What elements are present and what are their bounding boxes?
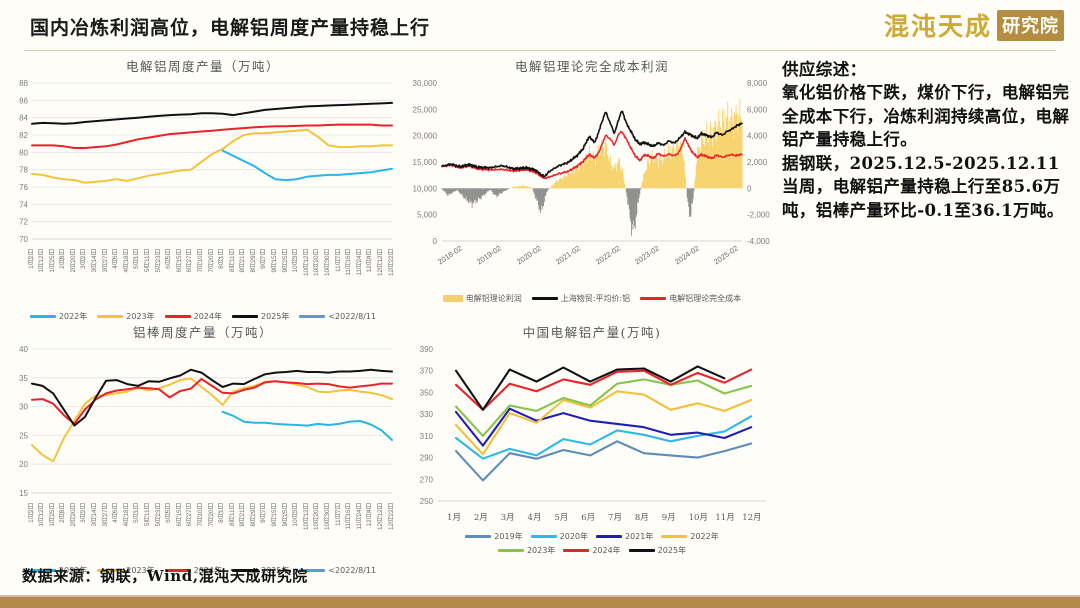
svg-text:350: 350 xyxy=(420,388,434,397)
footer-bar xyxy=(0,597,1080,608)
legend-swatch xyxy=(640,297,666,300)
legend-item: 2024年 xyxy=(165,311,222,322)
chart-legend: 电解铝理论利润上海物贸:平均价:铝电解铝理论完全成本 xyxy=(408,293,776,304)
svg-text:30: 30 xyxy=(19,403,28,412)
legend-label: 2022年 xyxy=(690,531,718,542)
svg-text:88: 88 xyxy=(19,79,28,88)
svg-text:10,000: 10,000 xyxy=(413,184,438,193)
x-axis-label: 12月4日 xyxy=(367,503,373,526)
x-axis-label: 3月 xyxy=(501,511,515,523)
svg-text:76: 76 xyxy=(19,183,28,192)
x-axis-label: 11月16日 xyxy=(346,249,352,276)
x-axis-label: 3月14日 xyxy=(92,503,98,526)
legend-swatch xyxy=(661,535,687,538)
x-axis-label: 8月21日 xyxy=(240,249,246,272)
svg-text:86: 86 xyxy=(19,96,28,105)
x-axis-label: 10月12日 xyxy=(304,503,310,530)
x-axis-label: 3月27日 xyxy=(103,503,109,526)
chart1-canvas: 70727476788082848688 xyxy=(8,77,398,249)
legend-item: <2022/8/11 xyxy=(299,312,376,321)
chart-title: 中国电解铝产量(万吨) xyxy=(408,322,776,341)
x-axis-label: 6月 xyxy=(581,511,595,523)
page-title: 国内冶炼利润高位，电解铝周度产量持稳上行 xyxy=(30,13,430,40)
slide-header: 国内冶炼利润高位，电解铝周度产量持稳上行 混沌天成 研究院 xyxy=(0,0,1080,52)
legend-label: 2023年 xyxy=(126,311,154,322)
x-axis-label: 6月27日 xyxy=(187,249,193,272)
x-axis-label: 1月2日 xyxy=(29,249,35,269)
plot-area: 05,00010,00015,00020,00025,00030,000-4,0… xyxy=(408,77,776,257)
svg-text:0: 0 xyxy=(433,237,438,246)
svg-text:30,000: 30,000 xyxy=(413,79,438,88)
svg-text:72: 72 xyxy=(19,218,28,227)
x-axis-label: 10月30日 xyxy=(325,503,331,530)
x-axis-label: 10月20日 xyxy=(314,249,320,276)
legend-label: 2021年 xyxy=(625,531,653,542)
x-axis-label: 8月11日 xyxy=(230,503,236,526)
plot-area: 70727476788082848688 xyxy=(8,77,398,249)
x-axis-label: 5月11日 xyxy=(145,249,151,272)
x-axis-label: 1月25日 xyxy=(50,503,56,526)
chart-title: 电解铝周度产量（万吨） xyxy=(8,56,398,75)
x-axis-label: 11月7日 xyxy=(336,503,342,526)
x-axis-label: 9月15日 xyxy=(272,249,278,272)
x-axis-label: 10月30日 xyxy=(325,249,331,276)
svg-text:270: 270 xyxy=(420,475,434,484)
svg-text:70: 70 xyxy=(19,235,28,244)
x-axis-labels: 1月2月3月4月5月6月7月8月9月10月11月12月 xyxy=(408,511,776,527)
x-axis-labels: 1月2日1月12日1月25日2月8日2月20日3月2日3月14日3月27日4月6… xyxy=(8,503,398,563)
x-axis-label: 4月18日 xyxy=(124,503,130,526)
legend-label: 2019年 xyxy=(494,531,522,542)
data-source-note: 数据来源：钢联，Wind,混沌天成研究院 xyxy=(22,565,308,586)
svg-text:35: 35 xyxy=(19,374,28,383)
x-axis-label: 6月5日 xyxy=(166,249,172,269)
supply-summary-text: 供应综述： 氧化铝价格下跌，煤价下行，电解铝完全成本下行，冶炼利润持续高位，电解… xyxy=(782,58,1074,222)
legend-swatch xyxy=(629,549,655,552)
legend-swatch xyxy=(443,295,463,302)
legend-item: 2023年 xyxy=(97,311,154,322)
x-axis-label: 7月 xyxy=(608,511,622,523)
x-axis-label: 10月3日 xyxy=(293,249,299,272)
header-divider xyxy=(24,50,1056,51)
x-axis-label: 9月7日 xyxy=(261,249,267,269)
x-axis-label: 4月6日 xyxy=(113,503,119,523)
x-axis-label: 12月22日 xyxy=(389,249,395,276)
legend-label: <2022/8/11 xyxy=(328,566,376,575)
legend-item: 2023年 xyxy=(498,545,555,556)
legend-label: <2022/8/11 xyxy=(328,312,376,321)
legend-label: 2024年 xyxy=(194,311,222,322)
x-axis-label: 11月24日 xyxy=(357,249,363,276)
svg-text:25: 25 xyxy=(19,431,28,440)
legend-row: 2023年2024年2025年 xyxy=(498,545,686,556)
svg-text:6,000: 6,000 xyxy=(747,105,768,114)
x-axis-label: 5月1日 xyxy=(134,503,140,523)
legend-label: 电解铝理论完全成本 xyxy=(669,293,741,304)
legend-swatch xyxy=(30,315,56,318)
x-axis-label: 12月22日 xyxy=(389,503,395,530)
svg-text:15,000: 15,000 xyxy=(413,158,438,167)
x-axis-label: 11月16日 xyxy=(346,503,352,530)
plot-area: 152025303540 xyxy=(8,343,398,503)
x-axis-label: 8月1日 xyxy=(219,503,225,523)
legend-swatch xyxy=(532,297,558,300)
x-axis-label: 7月20日 xyxy=(209,249,215,272)
x-axis-label: 3月2日 xyxy=(81,249,87,269)
legend-swatch xyxy=(465,535,491,538)
legend-item: 2020年 xyxy=(531,531,588,542)
summary-paragraph-1: 氧化铝价格下跌，煤价下行，电解铝完全成本下行，冶炼利润持续高位，电解铝产量持稳上… xyxy=(782,81,1074,151)
legend-swatch xyxy=(299,315,325,318)
legend-item: 2025年 xyxy=(232,311,289,322)
chart2-canvas: 05,00010,00015,00020,00025,00030,000-4,0… xyxy=(408,77,776,257)
legend-row: 2019年2020年2021年2022年 xyxy=(465,531,718,542)
legend-label: 上海物贸:平均价:铝 xyxy=(561,293,630,304)
x-axis-label: 1月 xyxy=(447,511,461,523)
svg-text:4,000: 4,000 xyxy=(747,132,768,141)
x-axis-label: 5月23日 xyxy=(156,249,162,272)
legend-swatch xyxy=(596,535,622,538)
x-axis-label: 8月29日 xyxy=(251,249,257,272)
x-axis-label: 2月8日 xyxy=(60,503,66,523)
x-axis-label: 5月 xyxy=(554,511,568,523)
x-axis-label: 10月12日 xyxy=(304,249,310,276)
svg-text:250: 250 xyxy=(420,497,434,506)
x-axis-label: 6月15日 xyxy=(177,249,183,272)
svg-text:330: 330 xyxy=(420,410,434,419)
chart-alu-theoretical-profit: 电解铝理论完全成本利润 05,00010,00015,00020,00025,0… xyxy=(408,56,776,304)
x-axis-label: 9月25日 xyxy=(283,503,289,526)
svg-text:74: 74 xyxy=(19,200,28,209)
x-axis-label: 8月29日 xyxy=(251,503,257,526)
x-axis-label: 5月23日 xyxy=(156,503,162,526)
x-axis-label: 9月7日 xyxy=(261,503,267,523)
chart-legend: 2022年2023年2024年2025年<2022/8/11 xyxy=(8,311,398,322)
legend-swatch xyxy=(498,549,524,552)
svg-text:5,000: 5,000 xyxy=(417,211,438,220)
x-axis-label: 7月10日 xyxy=(198,503,204,526)
chart-title: 铝棒周度产量（万吨） xyxy=(8,322,398,341)
svg-text:80: 80 xyxy=(19,148,28,157)
legend-item: 2021年 xyxy=(596,531,653,542)
x-axis-label: 3月2日 xyxy=(81,503,87,523)
legend-label: 2024年 xyxy=(592,545,620,556)
chart-legend: 2019年2020年2021年2022年2023年2024年2025年 xyxy=(408,531,776,556)
x-axis-label: 3月14日 xyxy=(92,249,98,272)
svg-text:310: 310 xyxy=(420,432,434,441)
legend-swatch xyxy=(232,315,258,318)
x-axis-labels: 2018-022019-022020-022021-022022-022023-… xyxy=(408,257,776,293)
chart-alu-rod-weekly-output: 铝棒周度产量（万吨） 152025303540 1月2日1月12日1月25日2月… xyxy=(8,322,398,576)
x-axis-label: 11月 xyxy=(715,511,734,523)
x-axis-label: 8月21日 xyxy=(240,503,246,526)
legend-item: 2019年 xyxy=(465,531,522,542)
svg-text:390: 390 xyxy=(420,345,434,354)
svg-text:0: 0 xyxy=(747,184,752,193)
company-logo: 混沌天成 研究院 xyxy=(884,8,1064,42)
chart-title: 电解铝理论完全成本利润 xyxy=(408,56,776,75)
x-axis-label: 9月15日 xyxy=(272,503,278,526)
svg-text:40: 40 xyxy=(19,345,28,354)
x-axis-label: 9月 xyxy=(662,511,676,523)
legend-item: 上海物贸:平均价:铝 xyxy=(532,293,630,304)
x-axis-label: 12月4日 xyxy=(367,249,373,272)
chart-china-alu-monthly-output: 中国电解铝产量(万吨) 250270290310330350370390 1月2… xyxy=(408,322,776,556)
x-axis-label: 10月 xyxy=(689,511,708,523)
x-axis-label: 8月11日 xyxy=(230,249,236,272)
legend-label: 2023年 xyxy=(527,545,555,556)
svg-text:290: 290 xyxy=(420,454,434,463)
slide-root: 国内冶炼利润高位，电解铝周度产量持稳上行 混沌天成 研究院 电解铝周度产量（万吨… xyxy=(0,0,1080,608)
x-axis-label: 2月 xyxy=(474,511,488,523)
x-axis-label: 6月5日 xyxy=(166,503,172,523)
x-axis-labels: 1月2日1月12日1月25日2月8日2月20日3月2日3月14日3月27日4月6… xyxy=(8,249,398,309)
x-axis-label: 2月20日 xyxy=(71,249,77,272)
svg-text:-4,000: -4,000 xyxy=(747,237,770,246)
legend-label: 2025年 xyxy=(658,545,686,556)
legend-swatch xyxy=(563,549,589,552)
legend-item: 2025年 xyxy=(629,545,686,556)
legend-item: 2022年 xyxy=(661,531,718,542)
svg-text:82: 82 xyxy=(19,131,28,140)
legend-item: 2022年 xyxy=(30,311,87,322)
x-axis-label: 11月24日 xyxy=(357,503,363,530)
x-axis-label: 1月25日 xyxy=(50,249,56,272)
svg-text:25,000: 25,000 xyxy=(413,105,438,114)
svg-text:20,000: 20,000 xyxy=(413,132,438,141)
x-axis-label: 6月27日 xyxy=(187,503,193,526)
x-axis-label: 1月2日 xyxy=(29,503,35,523)
x-axis-label: 12月12日 xyxy=(378,503,384,530)
x-axis-label: 10月20日 xyxy=(314,503,320,530)
x-axis-label: 4月6日 xyxy=(113,249,119,269)
legend-label: 2020年 xyxy=(560,531,588,542)
x-axis-label: 9月25日 xyxy=(283,249,289,272)
svg-text:-2,000: -2,000 xyxy=(747,211,770,220)
x-axis-label: 2月8日 xyxy=(60,249,66,269)
svg-text:20: 20 xyxy=(19,460,28,469)
legend-swatch xyxy=(531,535,557,538)
logo-institute-badge: 研究院 xyxy=(997,10,1064,41)
x-axis-label: 6月15日 xyxy=(177,503,183,526)
x-axis-label: 11月7日 xyxy=(336,249,342,272)
x-axis-label: 1月12日 xyxy=(39,503,45,526)
x-axis-label: 8月 xyxy=(635,511,649,523)
x-axis-label: 1月12日 xyxy=(39,249,45,272)
legend-item: 电解铝理论利润 xyxy=(443,293,522,304)
chart-alu-weekly-output: 电解铝周度产量（万吨） 70727476788082848688 1月2日1月1… xyxy=(8,56,398,322)
logo-wordmark: 混沌天成 xyxy=(884,7,992,43)
x-axis-label: 12月 xyxy=(742,511,761,523)
x-axis-label: 10月3日 xyxy=(293,503,299,526)
svg-text:8,000: 8,000 xyxy=(747,79,768,88)
x-axis-label: 4月 xyxy=(528,511,542,523)
legend-label: 2025年 xyxy=(261,311,289,322)
x-axis-label: 7月10日 xyxy=(198,249,204,272)
x-axis-label: 7月20日 xyxy=(209,503,215,526)
legend-item: 电解铝理论完全成本 xyxy=(640,293,741,304)
legend-item: 2024年 xyxy=(563,545,620,556)
x-axis-label: 5月11日 xyxy=(145,503,151,526)
x-axis-label: 5月1日 xyxy=(134,249,140,269)
svg-text:15: 15 xyxy=(19,489,28,498)
legend-label: 电解铝理论利润 xyxy=(466,293,522,304)
svg-text:370: 370 xyxy=(420,367,434,376)
legend-swatch xyxy=(97,315,123,318)
plot-area: 250270290310330350370390 xyxy=(408,343,776,511)
svg-text:2,000: 2,000 xyxy=(747,158,768,167)
chart3-canvas: 152025303540 xyxy=(8,343,398,503)
x-axis-label: 8月1日 xyxy=(219,249,225,269)
summary-heading: 供应综述： xyxy=(782,58,1074,81)
x-axis-label: 12月12日 xyxy=(378,249,384,276)
legend-item: <2022/8/11 xyxy=(299,566,376,575)
legend-swatch xyxy=(165,315,191,318)
chart4-canvas: 250270290310330350370390 xyxy=(408,343,776,511)
svg-text:78: 78 xyxy=(19,166,28,175)
legend-label: 2022年 xyxy=(59,311,87,322)
x-axis-label: 2月20日 xyxy=(71,503,77,526)
x-axis-label: 3月27日 xyxy=(103,249,109,272)
svg-text:84: 84 xyxy=(19,114,28,123)
x-axis-label: 4月18日 xyxy=(124,249,130,272)
summary-paragraph-2: 据钢联，2025.12.5-2025.12.11当周，电解铝产量持稳上行至85.… xyxy=(782,152,1074,222)
